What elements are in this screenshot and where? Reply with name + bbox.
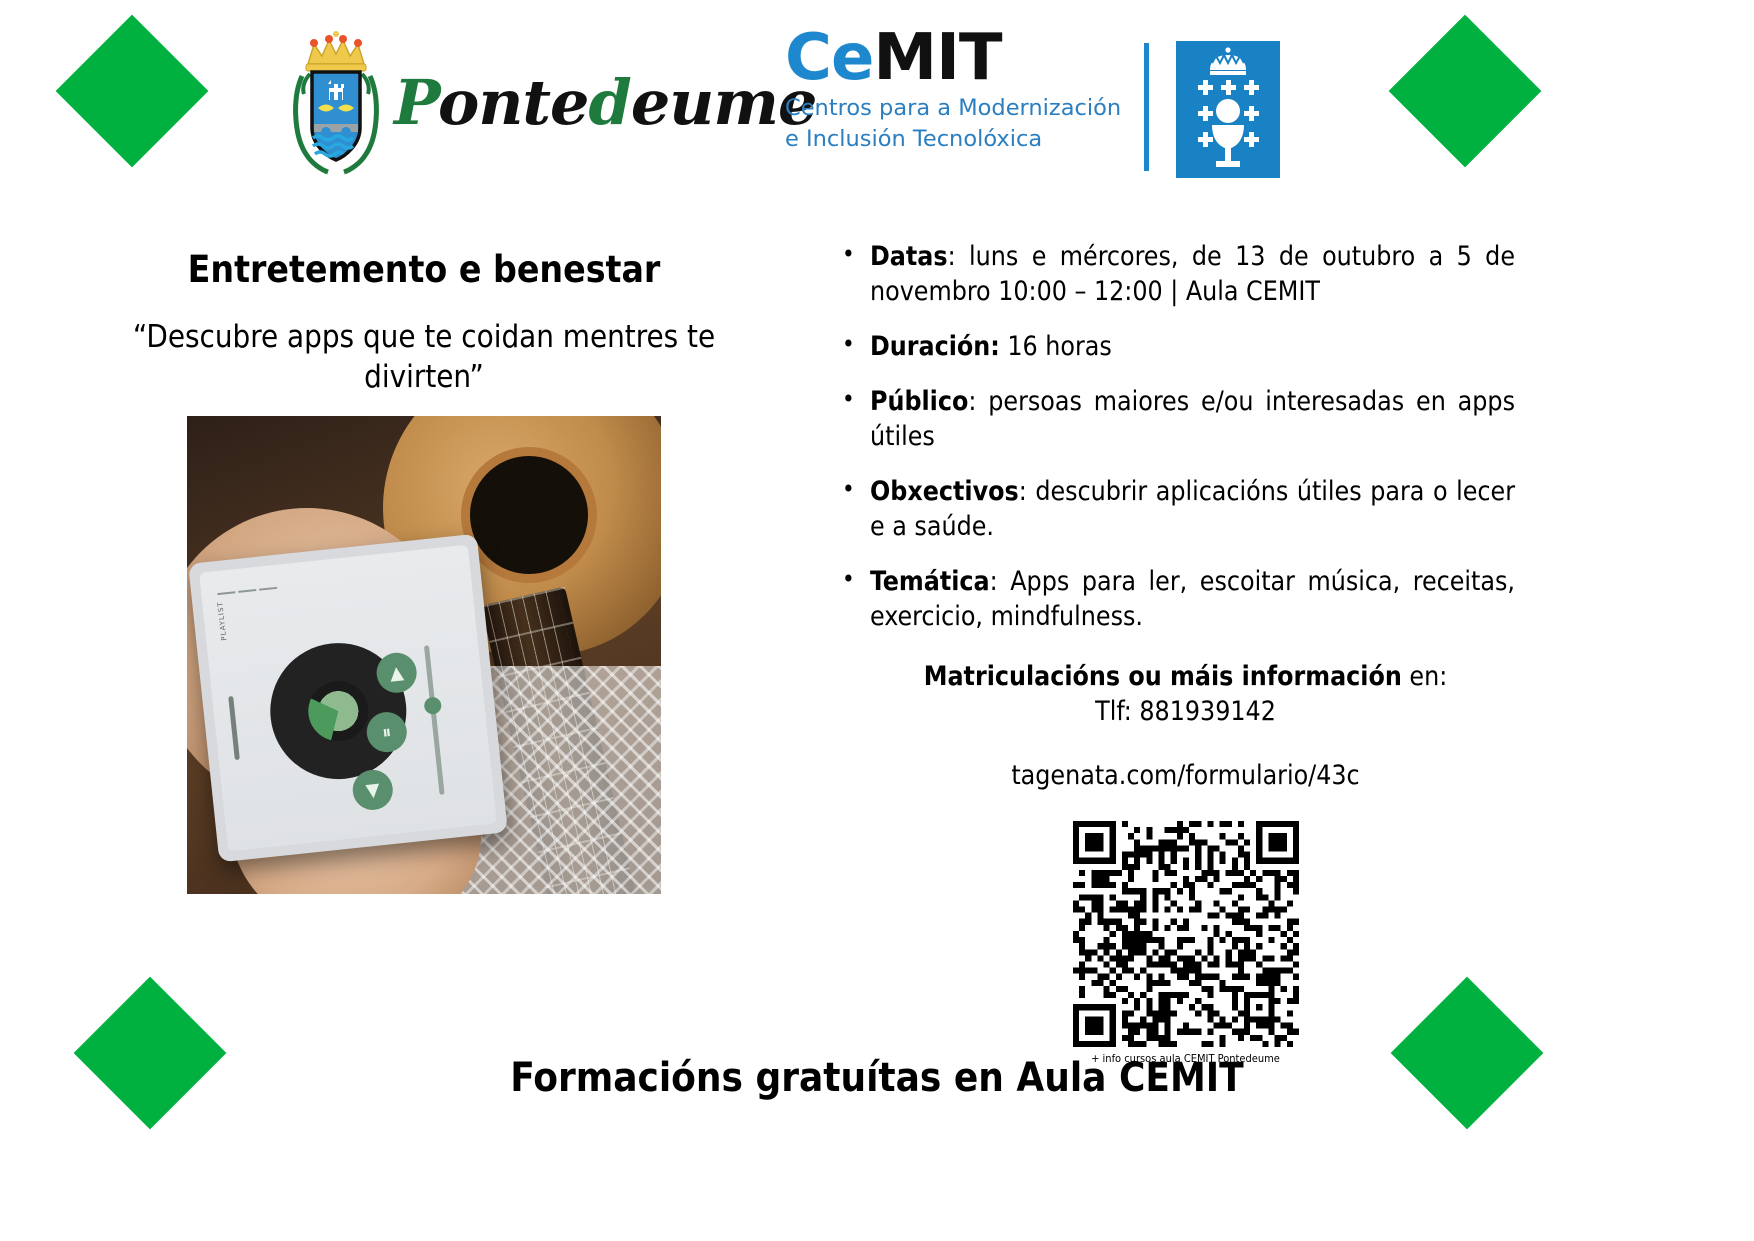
- enrolment-headline: Matriculacións ou máis información: [924, 661, 1402, 692]
- cemit-logo: CeMIT Centros para a Modernización e Inc…: [785, 25, 1135, 175]
- detail-text: luns e mércores, de 13 de outubro a 5 de…: [870, 241, 1515, 307]
- qr-code-block[interactable]: + info cursos aula CEMIT Pontedeume: [1047, 821, 1299, 1065]
- detail-label: Temática: [870, 566, 990, 597]
- course-photo: PLAYLIST ▲ ⏸ ▼: [187, 416, 661, 894]
- cemit-subtitle-line-1: Centros para a Modernización: [785, 94, 1135, 123]
- pontedeume-wordmark: Pontedeume: [394, 72, 816, 134]
- pontedeume-wordmark-p: P: [394, 66, 438, 139]
- cemit-subtitle-line-2: e Inclusión Tecnolóxica: [785, 125, 1135, 154]
- detail-separator: :: [948, 241, 956, 272]
- xunta-de-galicia-logo: [1176, 41, 1280, 178]
- logo-divider: [1144, 43, 1149, 171]
- footer-banner-text: Formacións gratuítas en Aula CEMIT: [0, 1055, 1754, 1101]
- contact-phone: Tlf: 881939142: [856, 694, 1515, 730]
- right-column: Datas: luns e mércores, de 13 de outubro…: [830, 240, 1515, 1065]
- list-item: Duración: 16 horas: [830, 330, 1515, 365]
- tablet-screen: PLAYLIST ▲ ⏸ ▼: [199, 544, 497, 851]
- list-item: Público: persoas maiores e/ou interesada…: [830, 385, 1515, 455]
- pontedeume-coat-of-arms-icon: [288, 28, 384, 178]
- list-item: Temática: Apps para ler, escoitar música…: [830, 565, 1515, 635]
- course-details-list: Datas: luns e mércores, de 13 de outubro…: [830, 240, 1515, 635]
- cemit-wordmark-ce: Ce: [785, 21, 873, 95]
- pontedeume-wordmark-d: d: [588, 66, 630, 139]
- detail-separator: :: [1019, 476, 1027, 507]
- tablet-device: PLAYLIST ▲ ⏸ ▼: [188, 533, 508, 862]
- detail-label: Obxectivos: [870, 476, 1019, 507]
- detail-label: Duración:: [870, 331, 1000, 362]
- qr-code-image[interactable]: [1073, 821, 1299, 1047]
- tablet-menu-icon: [216, 559, 446, 595]
- detail-separator: :: [990, 566, 998, 597]
- enrolment-headline-suffix: en:: [1402, 661, 1447, 692]
- list-item: Datas: luns e mércores, de 13 de outubro…: [830, 240, 1515, 310]
- left-column: Entretemento e benestar “Descubre apps q…: [88, 248, 760, 894]
- detail-label: Público: [870, 386, 968, 417]
- pontedeume-logo: Pontedeume: [288, 22, 738, 184]
- decorative-diamond-bottom-left: [74, 977, 227, 1130]
- page-title: Entretemento e benestar: [88, 248, 760, 292]
- enrolment-block: Matriculacións ou máis información en: T…: [830, 659, 1515, 731]
- detail-text: 16 horas: [1000, 331, 1112, 362]
- header-logo-strip: Pontedeume CeMIT Centros para a Moderniz…: [0, 0, 1754, 200]
- course-tagline: “Descubre apps que te coidan mentres te …: [88, 318, 760, 397]
- list-item: Obxectivos: descubrir aplicacións útiles…: [830, 475, 1515, 545]
- tablet-sidebar-indicator: [228, 696, 240, 760]
- pontedeume-wordmark-onte: onte: [438, 66, 589, 139]
- playlist-label: PLAYLIST: [216, 601, 228, 641]
- volume-slider: [424, 645, 445, 795]
- cemit-wordmark: CeMIT: [785, 25, 1135, 92]
- registration-url[interactable]: tagenata.com/formulario/43c: [830, 760, 1515, 791]
- cemit-wordmark-mit: MIT: [873, 21, 1001, 95]
- detail-label: Datas: [870, 241, 948, 272]
